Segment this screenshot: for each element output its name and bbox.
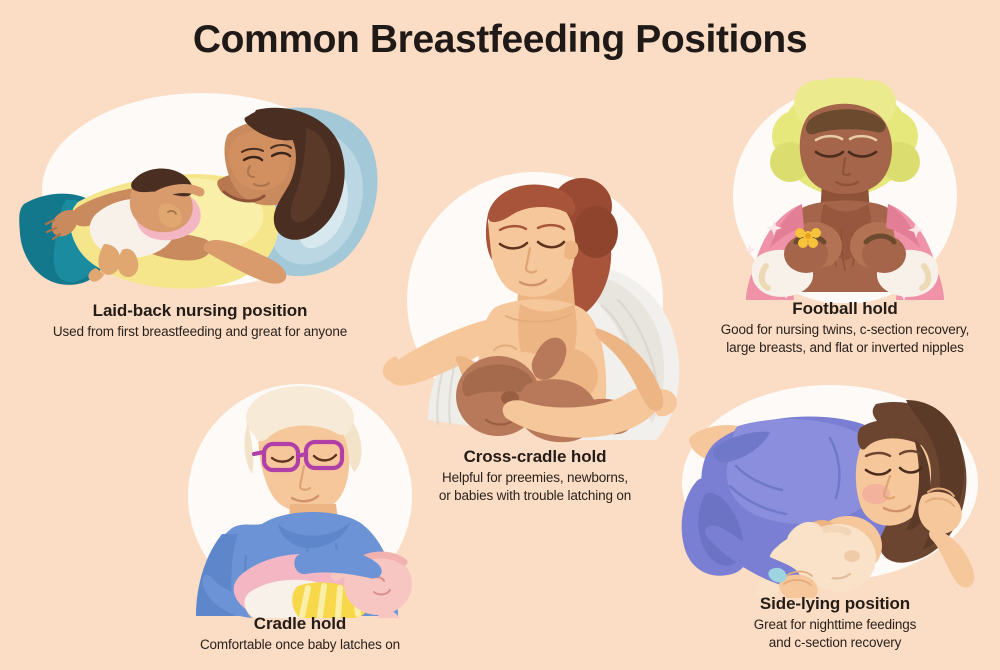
card-side-lying-position: Side-lying position Great for nighttime … — [670, 378, 1000, 668]
card-football-hold: Football hold Good for nursing twins, c-… — [690, 78, 1000, 368]
illustration-side-lying-position — [670, 378, 1000, 598]
card-cradle-hold: Cradle hold Comfortable once baby latche… — [150, 378, 450, 668]
caption-cradle-hold: Cradle hold Comfortable once baby latche… — [150, 613, 450, 654]
illustration-football-hold — [690, 78, 1000, 303]
illustration-laid-back-nursing — [10, 82, 390, 302]
caption-side-lying-position: Side-lying position Great for nighttime … — [670, 593, 1000, 652]
card-desc-football-hold: Good for nursing twins, c-section recove… — [690, 321, 1000, 357]
card-title-laid-back: Laid-back nursing position — [10, 300, 390, 321]
illustration-cradle-hold — [150, 378, 450, 618]
card-desc-cradle-hold: Comfortable once baby latches on — [150, 636, 450, 654]
card-title-cradle-hold: Cradle hold — [150, 613, 450, 634]
caption-laid-back: Laid-back nursing position Used from fir… — [10, 300, 390, 341]
caption-football-hold: Football hold Good for nursing twins, c-… — [690, 298, 1000, 357]
card-title-football-hold: Football hold — [690, 298, 1000, 319]
card-title-side-lying-position: Side-lying position — [670, 593, 1000, 614]
infographic-poster: Common Breastfeeding Positions — [0, 0, 1000, 670]
page-title: Common Breastfeeding Positions — [0, 18, 1000, 62]
card-desc-laid-back: Used from first breastfeeding and great … — [10, 323, 390, 341]
card-laid-back: Laid-back nursing position Used from fir… — [10, 82, 390, 332]
card-desc-side-lying-position: Great for nighttime feedings and c-secti… — [670, 616, 1000, 652]
